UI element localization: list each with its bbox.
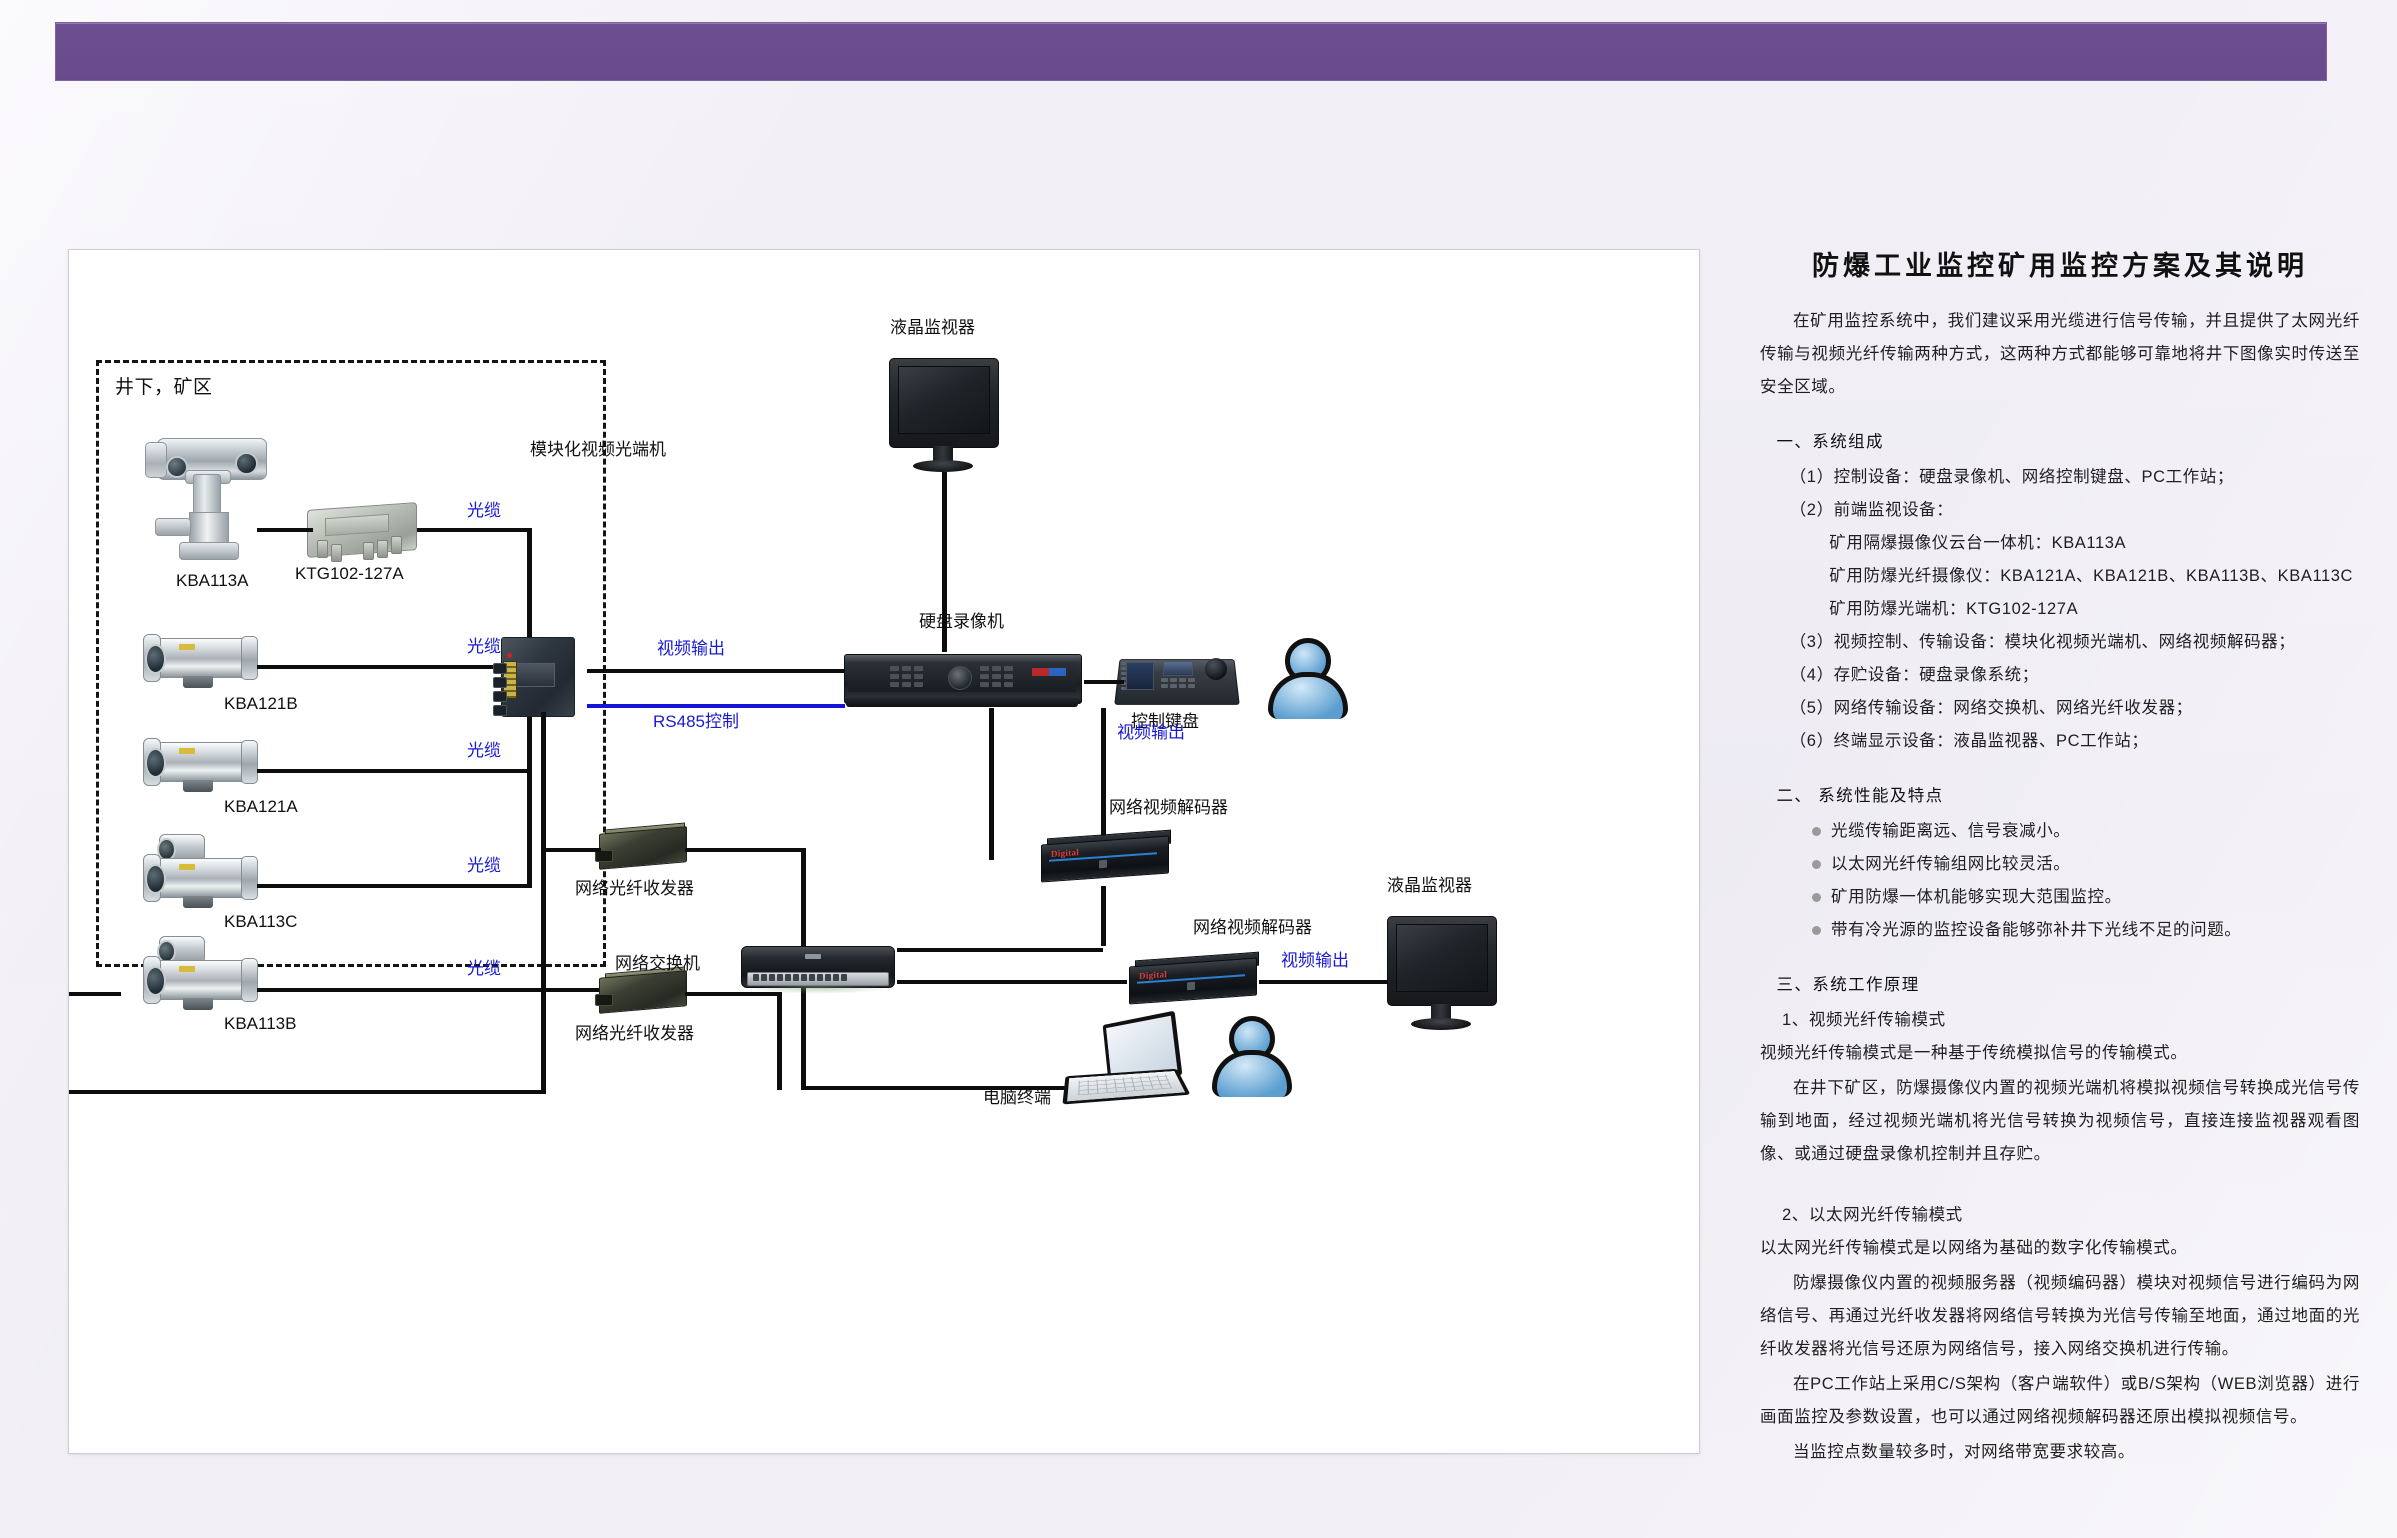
device-kba113a-ptz-camera bbox=[139, 430, 279, 560]
device-network-video-decoder-2: Digital bbox=[1125, 956, 1265, 1008]
label-lcd-monitor-2: 液晶监视器 bbox=[1387, 876, 1472, 896]
wire-dvr-down-to-switch-bus bbox=[989, 708, 994, 860]
device-network-video-decoder-1: Digital bbox=[1037, 834, 1177, 886]
section-1-item-4: （4）存贮设备：硬盘录像系统； bbox=[1760, 659, 2360, 692]
paragraph-spacer bbox=[1760, 1173, 2360, 1199]
label-dvr-recorder: 硬盘录像机 bbox=[919, 612, 1004, 632]
section-2-bullet-4: 带有冷光源的监控设备能够弥补井下光线不足的问题。 bbox=[1812, 914, 2360, 947]
device-control-keyboard bbox=[1117, 648, 1241, 708]
device-kba121a-camera bbox=[135, 732, 265, 796]
device-modular-video-optical-transceiver bbox=[487, 633, 587, 725]
wire-fmc1-to-switch-riser bbox=[685, 848, 805, 852]
label-kba113a: KBA113A bbox=[176, 571, 248, 591]
system-diagram-panel: 井下，矿区 KBA113A KTG102-127A 光缆 bbox=[68, 249, 1700, 1454]
section-2-bullet-2-text: 以太网光纤传输组网比较灵活。 bbox=[1831, 848, 2070, 881]
section-2-bullet-1: 光缆传输距离远、信号衰减小。 bbox=[1812, 815, 2360, 848]
wire-label-video-output-2: 视频输出 bbox=[1117, 718, 1185, 743]
label-kba113b: KBA113B bbox=[224, 1014, 296, 1034]
wire-label-fiber-1: 光缆 bbox=[467, 496, 501, 521]
wire-bus-to-fmc1 bbox=[541, 848, 601, 852]
label-network-video-decoder-1: 网络视频解码器 bbox=[1109, 798, 1228, 818]
wire-label-video-output-3: 视频输出 bbox=[1281, 946, 1349, 971]
wire-decoder1-to-switch bbox=[1101, 886, 1106, 946]
wire-label-fiber-4: 光缆 bbox=[467, 851, 501, 876]
wire-kba121a-to-fiber-trunk bbox=[257, 769, 530, 773]
wire-decoder2-to-monitor2 bbox=[1259, 980, 1389, 984]
label-modular-video-optical-transceiver: 模块化视频光端机 bbox=[530, 440, 666, 460]
device-network-fiber-media-converter-1 bbox=[593, 822, 693, 872]
mode-2-paragraph-1: 以太网光纤传输模式是以网络为基础的数字化传输模式。 bbox=[1760, 1232, 2360, 1265]
mode-2-paragraph-3: 在PC工作站上采用C/S架构（客户端软件）或B/S架构（WEB浏览器）进行画面监… bbox=[1760, 1368, 2360, 1434]
device-ktg102-127a-junction-box bbox=[301, 500, 423, 560]
device-kba113c-camera bbox=[135, 848, 265, 912]
label-network-fiber-media-converter-2: 网络光纤收发器 bbox=[575, 1024, 694, 1044]
section-1-item-3: （3）视频控制、传输设备：模块化视频光端机、网络视频解码器； bbox=[1760, 626, 2360, 659]
mode-1-paragraph-2: 在井下矿区，防爆摄像仪内置的视频光端机将模拟视频信号转换成光信号传输到地面，经过… bbox=[1760, 1072, 2360, 1171]
section-2-heading: 二、 系统性能及特点 bbox=[1760, 780, 2360, 813]
explanation-column: 防爆工业监控矿用监控方案及其说明 在矿用监控系统中，我们建议采用光缆进行信号传输… bbox=[1760, 244, 2360, 1471]
bullet-dot-icon bbox=[1812, 827, 1821, 836]
avatar-operator-1 bbox=[1265, 638, 1345, 718]
wire-kba113c-to-fiber-trunk bbox=[257, 884, 530, 888]
wire-switch-down-right bbox=[801, 994, 806, 1090]
label-kba121a: KBA121A bbox=[224, 797, 298, 817]
wire-dvr-video-output-down bbox=[1101, 708, 1106, 836]
section-1-item-6: （6）终端显示设备：液晶监视器、PC工作站； bbox=[1760, 725, 2360, 758]
wire-label-fiber-3: 光缆 bbox=[467, 736, 501, 761]
label-kba113c: KBA113C bbox=[224, 912, 297, 932]
section-1-heading: 一、系统组成 bbox=[1760, 426, 2360, 459]
label-network-fiber-media-converter-1: 网络光纤收发器 bbox=[575, 879, 694, 899]
label-lcd-monitor-1: 液晶监视器 bbox=[890, 318, 975, 338]
section-1-item-5: （5）网络传输设备：网络交换机、网络光纤收发器； bbox=[1760, 692, 2360, 725]
section-1-subitem-3: 矿用防爆光端机：KTG102-127A bbox=[1760, 593, 2360, 626]
wire-label-fiber-5: 光缆 bbox=[467, 954, 501, 979]
section-1-subitem-1: 矿用隔爆摄像仪云台一体机：KBA113A bbox=[1760, 527, 2360, 560]
top-banner bbox=[55, 22, 2327, 81]
wire-bottom-left-bus bbox=[69, 1090, 546, 1094]
wire-label-rs485: RS485控制 bbox=[653, 707, 739, 732]
device-lcd-monitor-2 bbox=[1387, 916, 1499, 1034]
section-2-bullet-3-text: 矿用防爆一体机能够实现大范围监控。 bbox=[1831, 881, 2122, 914]
mode-2-paragraph-2: 防爆摄像仪内置的视频服务器（视频编码器）模块对视频信号进行编码为网络信号、再通过… bbox=[1760, 1267, 2360, 1366]
wire-ktg102-to-fiber-trunk bbox=[417, 528, 530, 532]
bullet-dot-icon bbox=[1812, 893, 1821, 902]
section-1-item-2: （2）前端监视设备： bbox=[1760, 494, 2360, 527]
label-kba121b: KBA121B bbox=[224, 694, 298, 714]
label-ktg102-127a: KTG102-127A bbox=[295, 564, 404, 584]
mode-1-heading: 1、视频光纤传输模式 bbox=[1782, 1004, 2360, 1037]
section-2-bullet-1-text: 光缆传输距离远、信号衰减小。 bbox=[1831, 815, 2070, 848]
intro-paragraph: 在矿用监控系统中，我们建议采用光缆进行信号传输，并且提供了太网光纤传输与视频光纤… bbox=[1760, 305, 2360, 404]
wire-fmc2-left-stub bbox=[69, 992, 121, 996]
mode-2-paragraph-4: 当监控点数量较多时，对网络带宽要求较高。 bbox=[1760, 1436, 2360, 1469]
section-3-heading: 三、系统工作原理 bbox=[1760, 969, 2360, 1002]
device-kba121b-camera bbox=[135, 628, 265, 692]
section-2-bullet-2: 以太网光纤传输组网比较灵活。 bbox=[1812, 848, 2360, 881]
underground-mine-zone-label: 井下，矿区 bbox=[115, 372, 213, 399]
device-kba113b-camera bbox=[135, 950, 265, 1014]
mode-1-paragraph-1: 视频光纤传输模式是一种基于传统模拟信号的传输模式。 bbox=[1760, 1037, 2360, 1070]
device-lcd-monitor-1 bbox=[889, 358, 1001, 476]
device-dvr-recorder bbox=[844, 648, 1084, 710]
wire-mvt-video-output-to-dvr bbox=[587, 669, 845, 673]
document-title: 防爆工业监控矿用监控方案及其说明 bbox=[1760, 244, 2360, 283]
wire-switch-down-left bbox=[777, 994, 782, 1090]
bullet-dot-icon bbox=[1812, 860, 1821, 869]
label-network-video-decoder-2: 网络视频解码器 bbox=[1193, 918, 1312, 938]
device-network-switch bbox=[741, 940, 901, 998]
wire-kba113a-to-ktg102 bbox=[257, 528, 313, 532]
wire-label-video-output-1: 视频输出 bbox=[657, 634, 725, 659]
avatar-operator-2 bbox=[1209, 1016, 1289, 1096]
label-pc-terminal: 电脑终端 bbox=[983, 1088, 1051, 1108]
wire-switch-to-decoder1-riser bbox=[897, 948, 1103, 952]
section-1-subitem-2: 矿用防爆光纤摄像仪：KBA121A、KBA121B、KBA113B、KBA113… bbox=[1760, 560, 2360, 593]
wire-dvr-to-control-keyboard bbox=[1084, 680, 1124, 684]
wire-monitor1-to-dvr bbox=[942, 472, 947, 652]
wire-kba113b-to-fmc2 bbox=[257, 988, 606, 992]
section-1-item-1: （1）控制设备：硬盘录像机、网络控制键盘、PC工作站； bbox=[1760, 461, 2360, 494]
section-2-bullet-4-text: 带有冷光源的监控设备能够弥补井下光线不足的问题。 bbox=[1831, 914, 2241, 947]
section-2-bullet-3: 矿用防爆一体机能够实现大范围监控。 bbox=[1812, 881, 2360, 914]
label-network-switch: 网络交换机 bbox=[615, 954, 700, 974]
wire-mvt-down-bus bbox=[541, 712, 546, 1094]
wire-switch-to-decoder2 bbox=[897, 980, 1127, 984]
device-pc-terminal-laptop bbox=[1065, 1018, 1185, 1110]
diagram-canvas: 井下，矿区 KBA113A KTG102-127A 光缆 bbox=[69, 250, 1699, 1453]
mode-2-heading: 2、以太网光纤传输模式 bbox=[1782, 1199, 2360, 1232]
bullet-dot-icon bbox=[1812, 926, 1821, 935]
